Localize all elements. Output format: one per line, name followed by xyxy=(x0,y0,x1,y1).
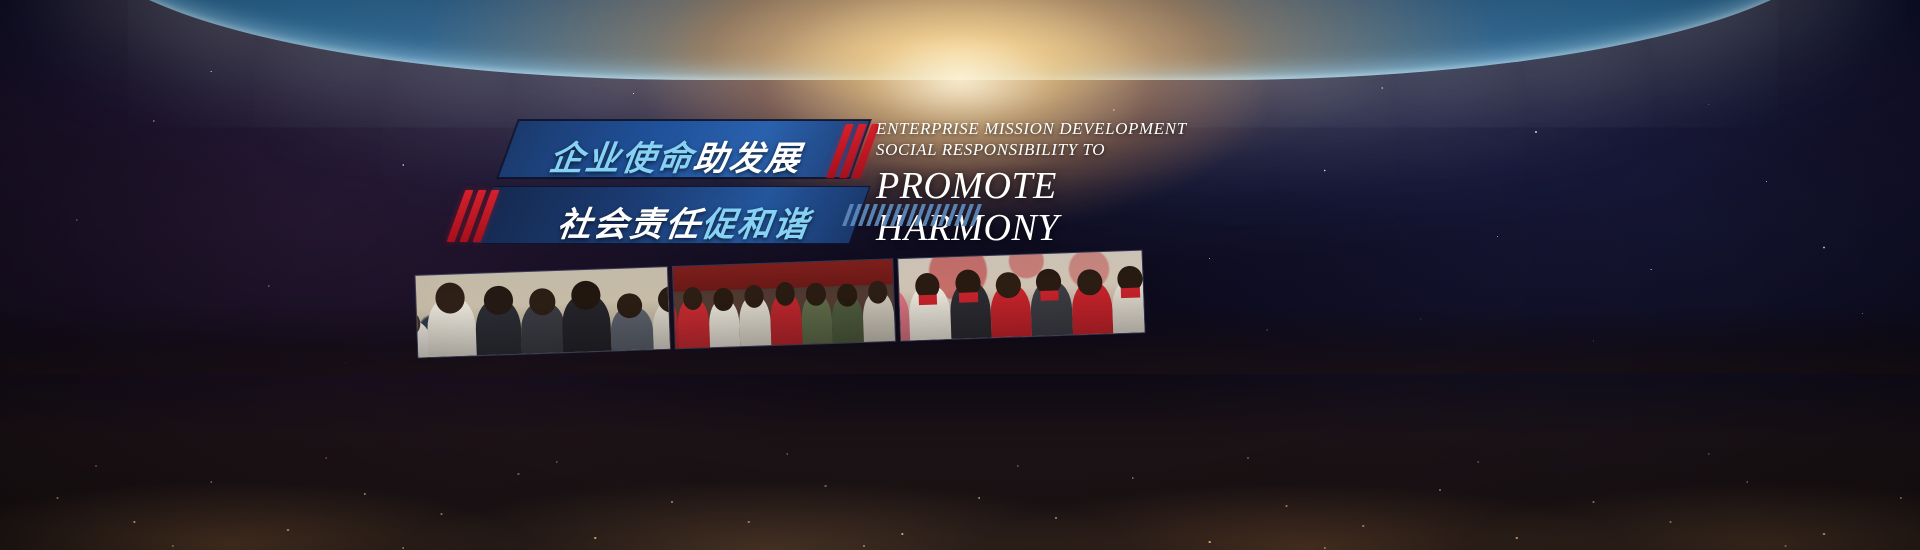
headline-cn-line-1-white: 助发展 xyxy=(691,139,805,179)
headline-cn-line-1: 企业使命助发展 xyxy=(547,131,806,180)
photo-overlay xyxy=(673,259,895,348)
headline-en-line-2: SOCIAL RESPONSIBILITY TO xyxy=(876,139,1206,160)
photo-thumbnail xyxy=(414,266,670,358)
headline-group: 企业使命助发展 社会责任促和谐 ENTERPRISE MISSION DEVEL… xyxy=(0,0,1920,550)
photo-overlay xyxy=(416,267,670,357)
headline-cn-line-2-white: 社会责任 xyxy=(555,205,705,245)
photo-thumbnail xyxy=(897,250,1145,342)
headline-cn-line-2: 社会责任促和谐 xyxy=(555,197,814,246)
headline-cn-line-1-blue: 企业使命 xyxy=(547,139,697,179)
headline-en-block: ENTERPRISE MISSION DEVELOPMENT SOCIAL RE… xyxy=(876,118,1206,249)
photo-thumbnail xyxy=(672,258,896,349)
photo-overlay xyxy=(898,251,1144,341)
red-slash-icon-left xyxy=(456,190,490,242)
photo-strip xyxy=(410,249,1150,358)
hatched-stripe-decor xyxy=(842,204,982,226)
csr-hero-banner: 企业使命助发展 社会责任促和谐 ENTERPRISE MISSION DEVEL… xyxy=(0,0,1920,550)
headline-cn-line-2-blue: 促和谐 xyxy=(699,205,813,245)
headline-en-line-1: ENTERPRISE MISSION DEVELOPMENT xyxy=(876,118,1206,139)
red-slash-icon-right xyxy=(836,124,870,178)
